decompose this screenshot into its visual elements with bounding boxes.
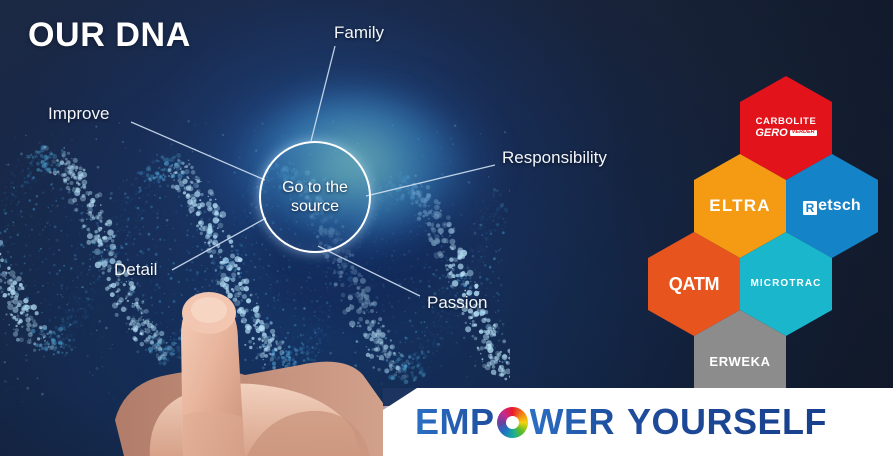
brand-label-erweka: ERWEKA: [709, 355, 770, 369]
retsch-initial: R: [803, 201, 817, 215]
hub-label: Go to the source: [282, 178, 348, 216]
node-label-detail[interactable]: Detail: [114, 260, 157, 280]
node-label-family[interactable]: Family: [334, 23, 384, 43]
node-label-improve[interactable]: Improve: [48, 104, 109, 124]
carbolite-line2: GERO: [755, 127, 787, 139]
rainbow-ring-icon: [497, 407, 528, 438]
carbolite-tag: VERDER: [790, 130, 817, 136]
brand-label-microtrac: MICROTRAC: [750, 279, 821, 290]
hub-circle[interactable]: Go to the source: [259, 141, 371, 253]
node-label-passion[interactable]: Passion: [427, 293, 487, 313]
page-title: OUR DNA: [28, 16, 191, 55]
hub-label-line1: Go to the: [282, 179, 348, 196]
banner-word-wer: WER: [530, 401, 616, 443]
brand-label-retsch: Retsch: [803, 198, 861, 215]
brand-label-qatm: QATM: [669, 275, 719, 294]
banner-word-yourself: YOURSELF: [627, 401, 827, 443]
slide-canvas: Go to the source OUR DNA Family Improve …: [0, 0, 893, 456]
bottom-banner: EMPWERYOURSELF: [383, 388, 893, 456]
brand-label-carbolite-gero: CARBOLITE GEROVERDER: [755, 117, 816, 140]
hub-label-line2: source: [291, 198, 339, 215]
brand-label-eltra: ELTRA: [709, 197, 770, 215]
banner-word-emp: EMP: [415, 401, 495, 443]
brand-hexagon-cluster: CARBOLITE GEROVERDER ELTRA Retsch QATM M…: [648, 76, 893, 376]
node-label-responsibility[interactable]: Responsibility: [502, 148, 607, 168]
banner-tagline: EMPWERYOURSELF: [415, 401, 827, 443]
carbolite-line1: CARBOLITE: [756, 116, 817, 127]
retsch-rest: etsch: [818, 197, 861, 214]
